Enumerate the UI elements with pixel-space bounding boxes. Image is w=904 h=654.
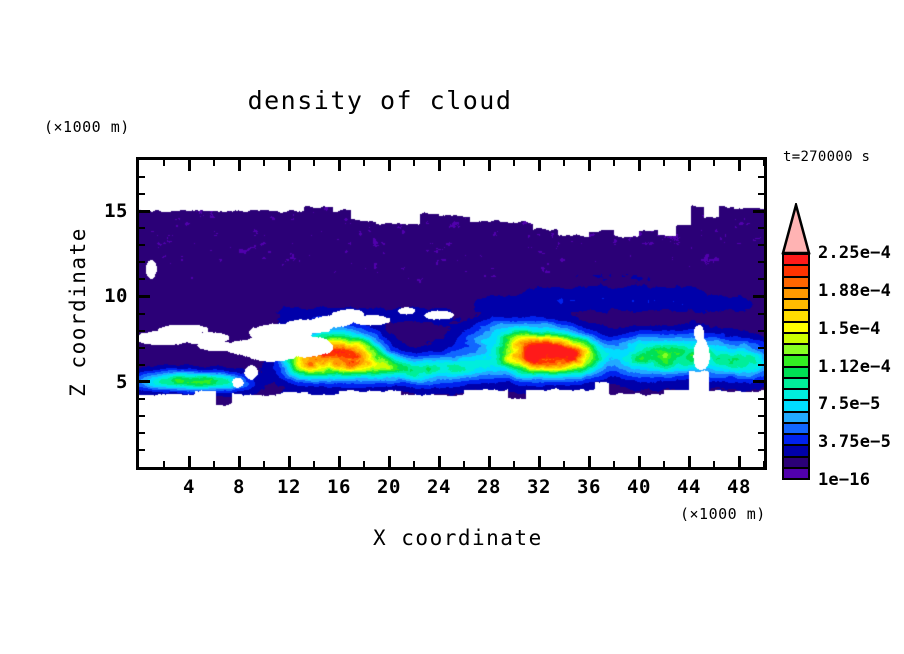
x-axis-tick: [488, 160, 491, 171]
x-axis-tick-label: 12: [277, 476, 301, 498]
x-axis-tick: [563, 160, 565, 166]
colorbar-swatch: [784, 289, 808, 300]
x-axis-tick: [563, 461, 565, 467]
x-axis-tick: [688, 160, 691, 171]
y-axis-tick: [139, 278, 145, 280]
colorbar-tick-label: 3.75e−5: [818, 432, 891, 452]
y-axis-tick: [758, 313, 764, 315]
colorbar-swatch: [784, 413, 808, 424]
x-axis-tick: [413, 461, 415, 467]
colorbar-tick-label: 1.5e−4: [818, 319, 881, 339]
colorbar-swatch: [784, 334, 808, 345]
y-axis-tick: [139, 227, 145, 229]
x-axis-tick: [213, 461, 215, 467]
y-axis-tick: [758, 432, 764, 434]
y-axis-tick: [139, 415, 145, 417]
x-axis-tick: [363, 461, 365, 467]
y-axis-tick: [139, 244, 145, 246]
x-axis-tick: [313, 160, 315, 166]
x-axis-tick-label: 32: [527, 476, 551, 498]
y-axis-tick: [139, 380, 150, 383]
x-axis-tick: [363, 160, 365, 166]
x-axis-tick: [463, 461, 465, 467]
x-axis-tick: [263, 461, 265, 467]
colorbar-swatch: [784, 311, 808, 322]
y-axis-tick-label: 10: [104, 285, 128, 307]
y-axis-tick: [139, 449, 145, 451]
x-axis-tick-label: 16: [327, 476, 351, 498]
x-axis-tick: [688, 456, 691, 467]
colorbar-tick-label: 7.5e−5: [818, 394, 881, 414]
x-axis-tick: [763, 461, 765, 467]
colorbar-tick-label: 1.12e−4: [818, 357, 891, 377]
colorbar-swatch: [784, 401, 808, 412]
x-axis-tick: [163, 461, 165, 467]
x-axis-tick: [288, 160, 291, 171]
x-axis-tick: [638, 160, 641, 171]
x-axis-units-label: (×1000 m): [680, 505, 766, 523]
x-axis-tick: [588, 160, 591, 171]
colorbar-arrow-icon: [779, 203, 813, 255]
x-axis-tick: [313, 461, 315, 467]
colorbar-tick-label: 2.25e−4: [818, 243, 891, 263]
cloud-density-contour-canvas: [139, 160, 764, 467]
x-axis-tick: [663, 461, 665, 467]
colorbar-swatch: [784, 345, 808, 356]
y-axis-tick: [139, 313, 145, 315]
x-axis-tick: [513, 461, 515, 467]
colorbar-swatch: [784, 469, 808, 478]
y-axis-tick: [758, 227, 764, 229]
time-annotation: t=270000 s: [783, 149, 870, 165]
y-axis-tick-label: 15: [104, 200, 128, 222]
x-axis-tick: [413, 160, 415, 166]
y-axis-tick: [139, 176, 145, 178]
x-axis-tick: [713, 461, 715, 467]
colorbar-swatch: [784, 390, 808, 401]
contour-plot-frame: [136, 157, 767, 470]
colorbar-swatches: [782, 253, 810, 480]
y-axis-tick: [139, 398, 145, 400]
x-axis-tick: [638, 456, 641, 467]
y-axis-tick: [758, 347, 764, 349]
x-axis-tick: [388, 160, 391, 171]
y-axis-tick: [139, 364, 145, 366]
x-axis-tick: [538, 160, 541, 171]
y-axis-tick: [758, 398, 764, 400]
x-axis-tick: [488, 456, 491, 467]
colorbar-swatch: [784, 300, 808, 311]
y-axis-tick: [758, 278, 764, 280]
x-axis-tick: [663, 160, 665, 166]
y-axis-tick: [139, 210, 150, 213]
y-axis-tick: [753, 210, 764, 213]
colorbar-swatch: [784, 458, 808, 469]
x-axis-tick: [238, 456, 241, 467]
x-axis-tick-label: 48: [727, 476, 751, 498]
x-axis-tick: [613, 461, 615, 467]
x-axis-tick: [438, 160, 441, 171]
x-axis-tick: [738, 456, 741, 467]
x-axis-tick: [763, 160, 765, 166]
x-axis-tick: [263, 160, 265, 166]
colorbar-tick-label: 1.88e−4: [818, 281, 891, 301]
x-axis-tick: [463, 160, 465, 166]
x-axis-tick: [288, 456, 291, 467]
x-axis-tick-label: 28: [477, 476, 501, 498]
y-axis-tick: [758, 415, 764, 417]
y-axis-tick: [758, 364, 764, 366]
x-axis-tick-label: 4: [183, 476, 195, 498]
x-axis-tick: [238, 160, 241, 171]
y-axis-tick: [758, 261, 764, 263]
colorbar-swatch: [784, 435, 808, 446]
colorbar-swatch: [784, 323, 808, 334]
colorbar-swatch: [784, 368, 808, 379]
x-axis-tick: [438, 456, 441, 467]
colorbar: [779, 203, 813, 480]
y-axis-tick: [139, 432, 145, 434]
x-axis-tick: [213, 160, 215, 166]
x-axis-tick: [188, 456, 191, 467]
y-axis-tick: [139, 261, 145, 263]
y-axis-tick: [753, 295, 764, 298]
x-axis-tick: [338, 456, 341, 467]
x-axis-tick: [588, 456, 591, 467]
x-axis-tick: [338, 160, 341, 171]
colorbar-swatch: [784, 379, 808, 390]
colorbar-swatch: [784, 278, 808, 289]
y-axis-tick: [139, 193, 145, 195]
y-axis-tick-label: 5: [116, 371, 128, 393]
x-axis-title: X coordinate: [373, 526, 543, 550]
x-axis-tick: [538, 456, 541, 467]
colorbar-swatch: [784, 266, 808, 277]
y-axis-title: Z coordinate: [66, 222, 90, 402]
x-axis-tick: [388, 456, 391, 467]
x-axis-tick: [613, 160, 615, 166]
y-axis-tick: [139, 295, 150, 298]
colorbar-swatch: [784, 356, 808, 367]
y-axis-tick: [758, 330, 764, 332]
y-axis-tick: [758, 244, 764, 246]
y-axis-tick-labels: 51015: [88, 0, 128, 654]
x-axis-tick: [713, 160, 715, 166]
colorbar-swatch: [784, 424, 808, 435]
x-axis-tick-label: 24: [427, 476, 451, 498]
x-axis-tick-label: 8: [233, 476, 245, 498]
x-axis-tick: [163, 160, 165, 166]
y-axis-tick: [758, 176, 764, 178]
x-axis-tick: [513, 160, 515, 166]
y-axis-tick: [753, 380, 764, 383]
x-axis-tick-label: 20: [377, 476, 401, 498]
x-axis-tick-label: 36: [577, 476, 601, 498]
y-axis-tick: [139, 347, 145, 349]
y-axis-tick: [139, 330, 145, 332]
x-axis-tick-label: 44: [677, 476, 701, 498]
y-axis-tick: [758, 193, 764, 195]
x-axis-tick: [188, 160, 191, 171]
colorbar-swatch: [784, 446, 808, 457]
x-axis-tick-label: 40: [627, 476, 651, 498]
colorbar-tick-label: 1e−16: [818, 470, 870, 490]
colorbar-swatch: [784, 255, 808, 266]
y-axis-tick: [758, 449, 764, 451]
x-axis-tick: [738, 160, 741, 171]
